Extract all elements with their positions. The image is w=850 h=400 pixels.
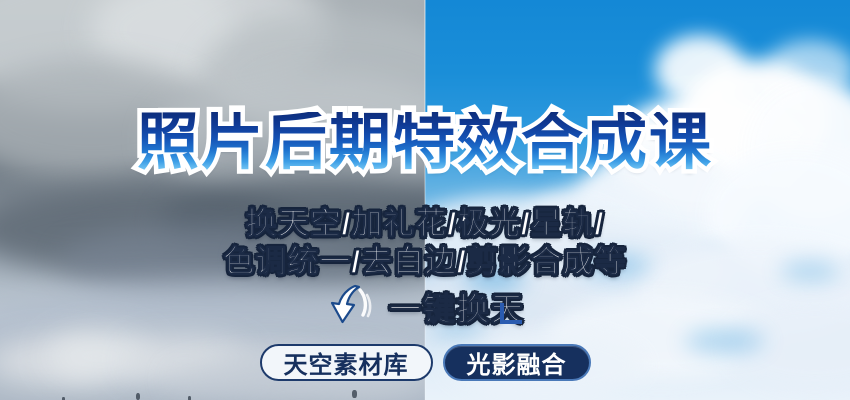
banner-title: 照片后期特效合成课 照片后期特效合成课 [0,112,850,182]
sky-replacement-course-banner: 照片后期特效合成课 照片后期特效合成课 换天空/加礼花/极光/星轨/ 色调统一/… [0,0,850,400]
badge-light-shadow-blend[interactable]: 光影融合 [443,344,591,381]
one-key-sky-swap-row: 一键换天 [0,278,850,336]
banner-title-fill: 照片后期特效合成课 [0,112,850,174]
feature-badges: 天空素材库 光影融合 [0,344,850,381]
subtitle-line-2: 色调统一/去白边/剪影合成等 [0,236,850,281]
corner-bracket-icon [498,302,524,328]
badge-sky-asset-library[interactable]: 天空素材库 [260,344,433,381]
curved-down-arrow-icon [325,280,381,336]
